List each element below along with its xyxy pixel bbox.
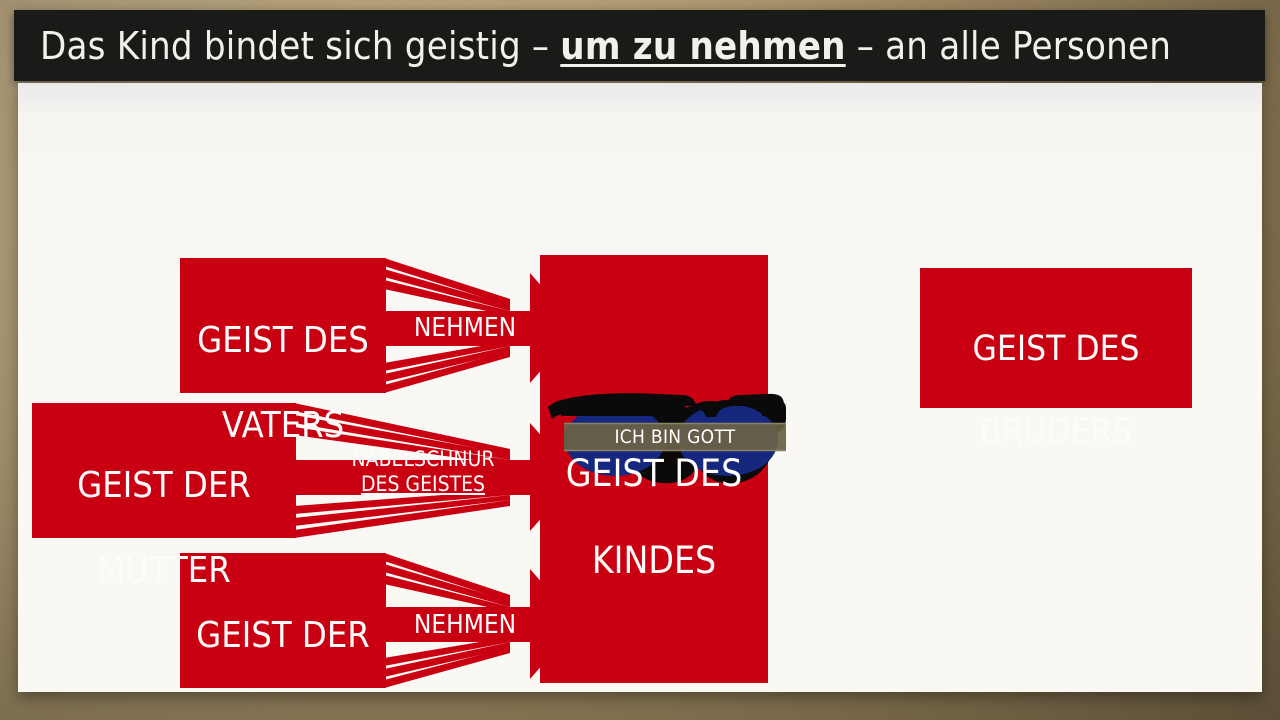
fray-mutter-lower: [294, 490, 510, 538]
slide-title-bar: Das Kind bindet sich geistig – um zu neh…: [14, 10, 1265, 81]
fray-oma-lower: [384, 637, 510, 688]
slide-root: Das Kind bindet sich geistig – um zu neh…: [0, 0, 1280, 720]
fray-vaters-upper: [384, 258, 510, 316]
slide-canvas: GEIST DES VATERS GEIST DER MUTTER GEIST …: [18, 83, 1262, 692]
box-bruders-rect: [920, 268, 1192, 408]
box-mutter-rect: [32, 403, 296, 538]
title-emphasis: um zu nehmen: [560, 24, 845, 68]
page-title: Das Kind bindet sich geistig – um zu neh…: [40, 27, 1171, 65]
diagram-graphics: [18, 83, 1262, 692]
fray-oma-upper: [384, 553, 510, 612]
box-vaters-rect: [180, 258, 386, 393]
title-prefix: Das Kind bindet sich geistig –: [40, 24, 560, 68]
fray-vaters-lower: [384, 341, 510, 393]
group-mutter: [32, 403, 578, 538]
box-oma-rect: [180, 553, 386, 688]
group-vaters: [180, 258, 578, 393]
fray-mutter-upper: [294, 403, 510, 465]
glasses-banner: [564, 423, 786, 451]
title-suffix: – an alle Personen: [846, 24, 1171, 68]
group-oma: [180, 553, 578, 688]
